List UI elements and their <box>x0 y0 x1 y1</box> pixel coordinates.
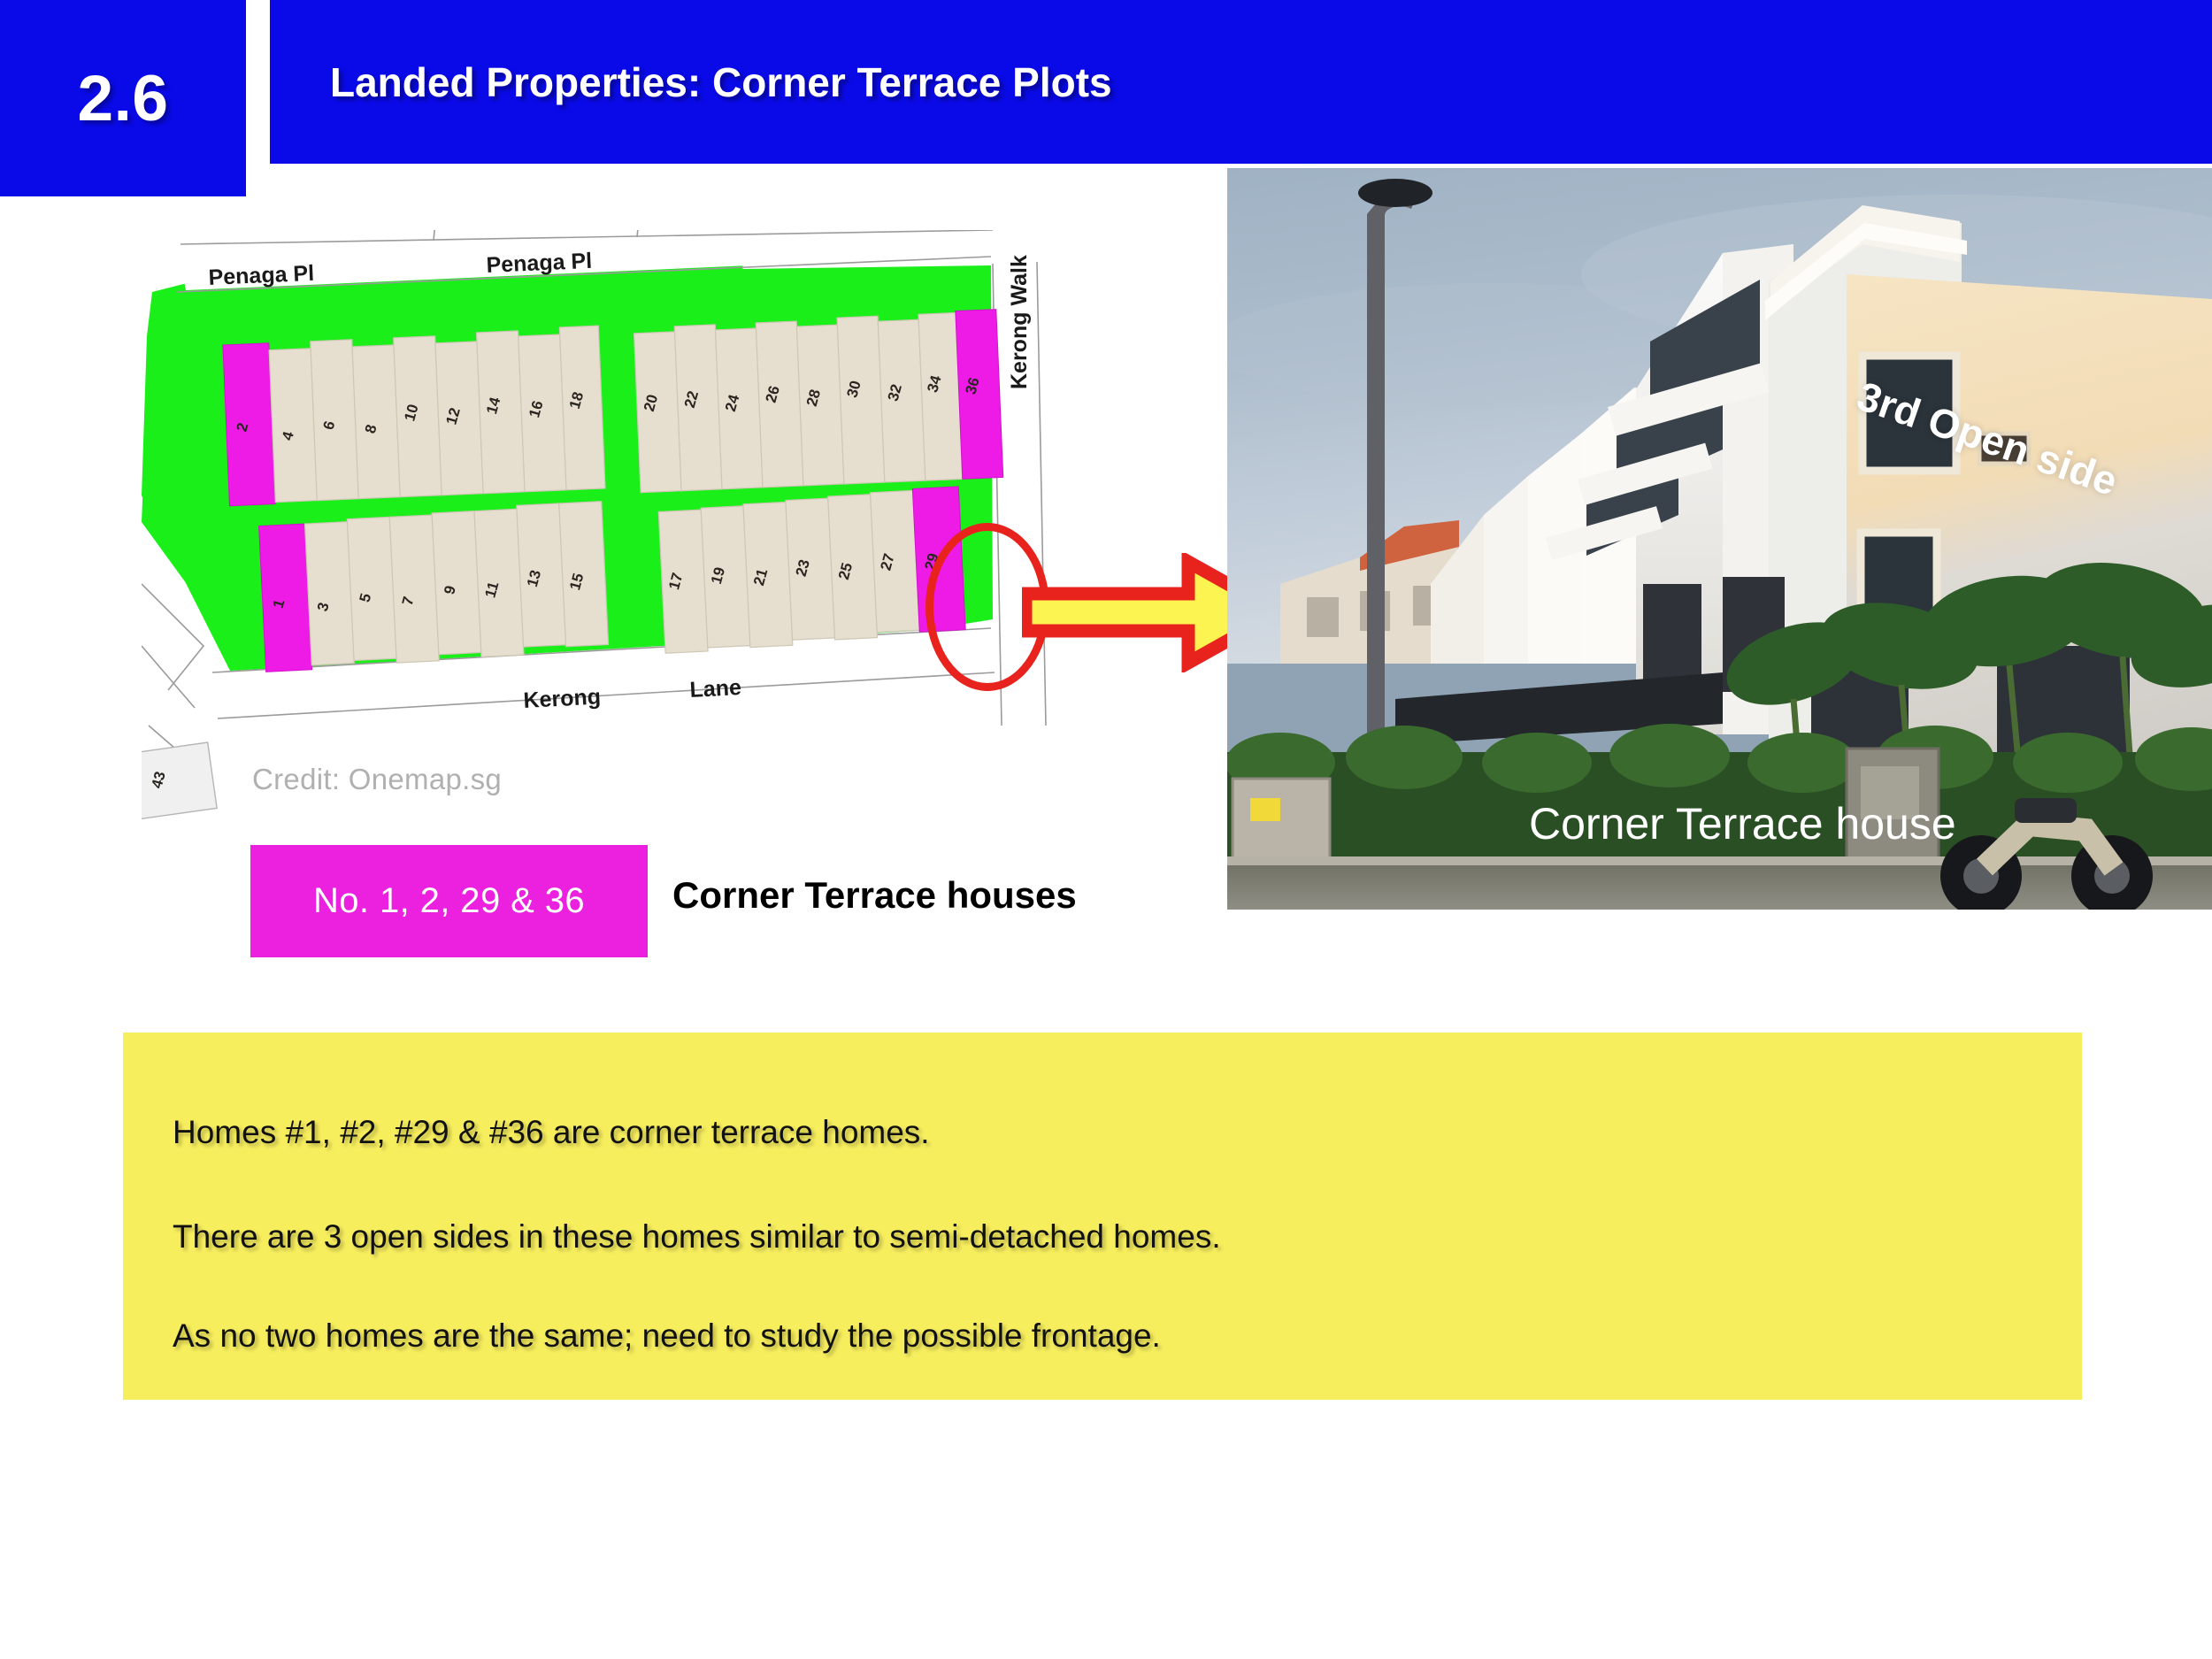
legend-caption: Corner Terrace houses <box>672 874 1077 917</box>
block-top-right: 20 22 24 26 28 30 32 34 36 <box>634 310 1003 493</box>
map-graphic: .parcel { fill:#e6dfcf; stroke:#cfc7b5; … <box>142 230 1097 823</box>
block-top-left: 2 4 6 8 10 12 14 16 18 <box>223 326 605 506</box>
street-label-penaga-pl-left: Penaga Pl <box>208 261 315 290</box>
slide-number-text: 2.6 <box>78 62 169 135</box>
street-label-lane: Lane <box>689 675 742 703</box>
note-line-2: There are 3 open sides in these homes si… <box>173 1218 1221 1256</box>
slide-number-badge: 2.6 <box>0 0 246 196</box>
photo-caption: Corner Terrace house <box>1529 798 1956 849</box>
legend-color-swatch: No. 1, 2, 29 & 36 <box>250 845 648 957</box>
block-bottom-right: 17 19 21 23 25 27 29 <box>658 487 966 653</box>
notes-panel: Homes #1, #2, #29 & #36 are corner terra… <box>123 1033 2082 1400</box>
page-title: Landed Properties: Corner Terrace Plots <box>330 58 1112 106</box>
note-line-1: Homes #1, #2, #29 & #36 are corner terra… <box>173 1114 930 1151</box>
map-credit: Credit: Onemap.sg <box>252 763 502 796</box>
site-plan-map[interactable]: .parcel { fill:#e6dfcf; stroke:#cfc7b5; … <box>142 230 1097 823</box>
note-line-3: As no two homes are the same; need to st… <box>173 1317 1161 1355</box>
title-bar: Landed Properties: Corner Terrace Plots <box>270 0 2212 164</box>
street-label-penaga-pl-right: Penaga Pl <box>486 249 593 278</box>
street-label-kerong-walk: Kerong Walk <box>1007 255 1032 389</box>
street-label-kerong: Kerong <box>523 684 602 713</box>
legend-swatch-label: No. 1, 2, 29 & 36 <box>313 881 585 921</box>
